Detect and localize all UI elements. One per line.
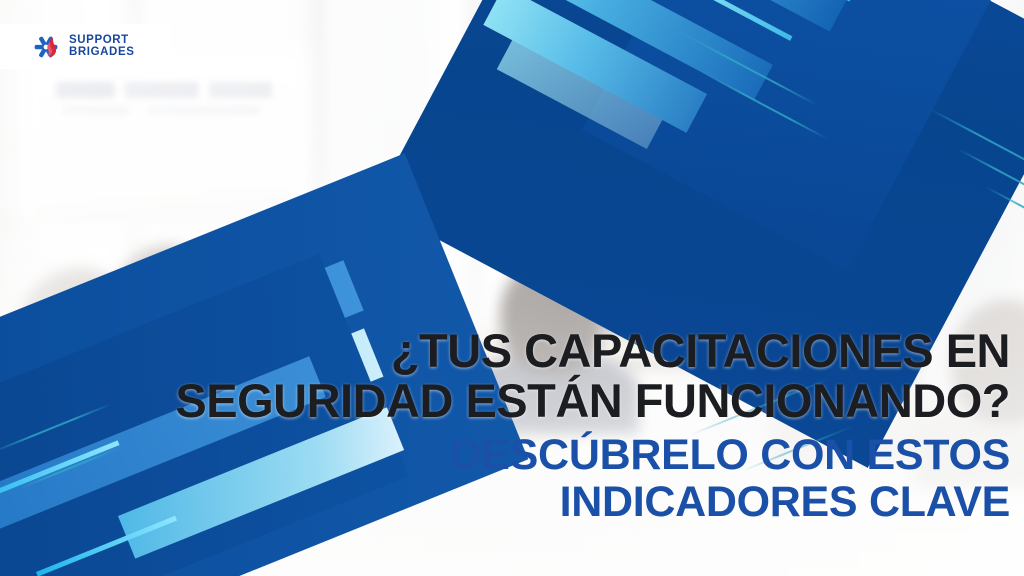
- headline-blue-line-1: DESCÚBRELO CON ESTOS: [0, 432, 1010, 479]
- support-brigades-star-flame-logo-icon: [32, 33, 60, 61]
- headline-blue: DESCÚBRELO CON ESTOS INDICADORES CLAVE: [0, 426, 1010, 527]
- brand-name-line-1: SUPPORT: [69, 35, 135, 47]
- headline-block: ¿TUS CAPACITACIONES EN SEGURIDAD ESTÁN F…: [0, 326, 1010, 526]
- headline-dark: ¿TUS CAPACITACIONES EN SEGURIDAD ESTÁN F…: [0, 326, 1010, 426]
- headline-dark-line-2: SEGURIDAD ESTÁN FUNCIONANDO?: [0, 376, 1010, 426]
- brand-logo-band[interactable]: SUPPORT BRIGADES: [0, 24, 170, 69]
- headline-dark-line-1: ¿TUS CAPACITACIONES EN: [0, 326, 1010, 376]
- brand-wordmark: SUPPORT BRIGADES: [69, 35, 135, 59]
- headline-blue-line-2: INDICADORES CLAVE: [0, 479, 1010, 526]
- marketing-banner: SUPPORT BRIGADES ¿TUS CAPACITACIONES EN …: [0, 0, 1024, 576]
- brand-name-line-2: BRIGADES: [69, 47, 135, 59]
